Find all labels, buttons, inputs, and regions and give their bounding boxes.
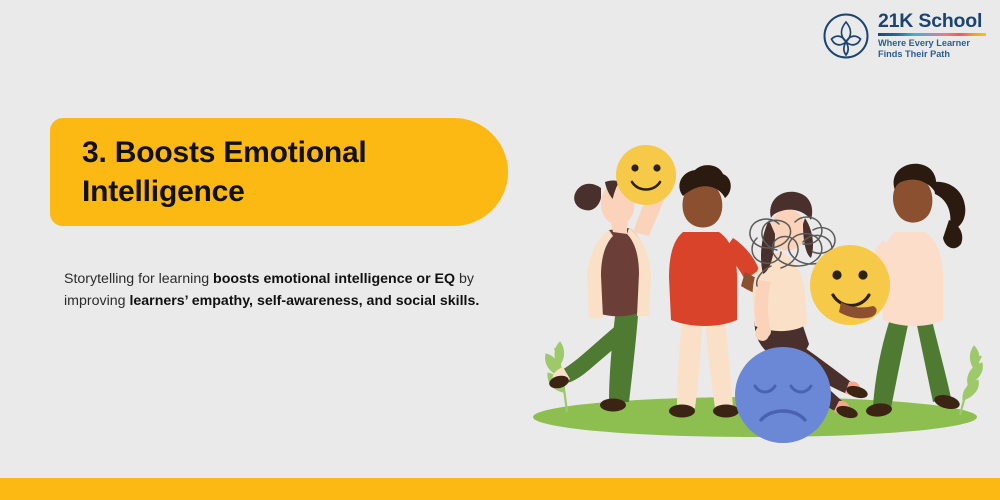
body-paragraph: Storytelling for learning boosts emotion… — [64, 269, 509, 312]
body-segment-3: learners’ empathy, self-awareness, and s… — [129, 293, 479, 309]
page-title: 3. Boosts Emotional Intelligence — [82, 133, 367, 211]
body-segment-0: Storytelling for learning — [64, 271, 213, 287]
slide-canvas: 21K School Where Every Learner Finds The… — [0, 0, 1000, 500]
logo-tagline-line1: Where Every Learner — [878, 38, 970, 48]
logo-title: 21K School — [878, 11, 986, 32]
logo-text-block: 21K School Where Every Learner Finds The… — [878, 11, 986, 60]
sad-face-ball-icon — [735, 347, 831, 443]
bottom-accent-bar — [0, 478, 1000, 500]
lotus-in-circle-icon — [822, 12, 870, 60]
brand-logo[interactable]: 21K School Where Every Learner Finds The… — [822, 8, 994, 64]
section-title-banner: 3. Boosts Emotional Intelligence — [50, 118, 508, 226]
people-with-emotion-faces-illustration — [505, 120, 1000, 460]
happy-face-held-up-icon — [616, 145, 676, 205]
page-title-line2: Intelligence — [82, 175, 245, 208]
body-segment-1: boosts emotional intelligence or EQ — [213, 271, 455, 287]
logo-tagline: Where Every Learner Finds Their Path — [878, 38, 986, 61]
plant-sprig-right — [960, 346, 982, 415]
logo-gradient-rule — [878, 33, 986, 36]
page-title-line1: 3. Boosts Emotional — [82, 136, 367, 169]
logo-tagline-line2: Finds Their Path — [878, 49, 950, 59]
